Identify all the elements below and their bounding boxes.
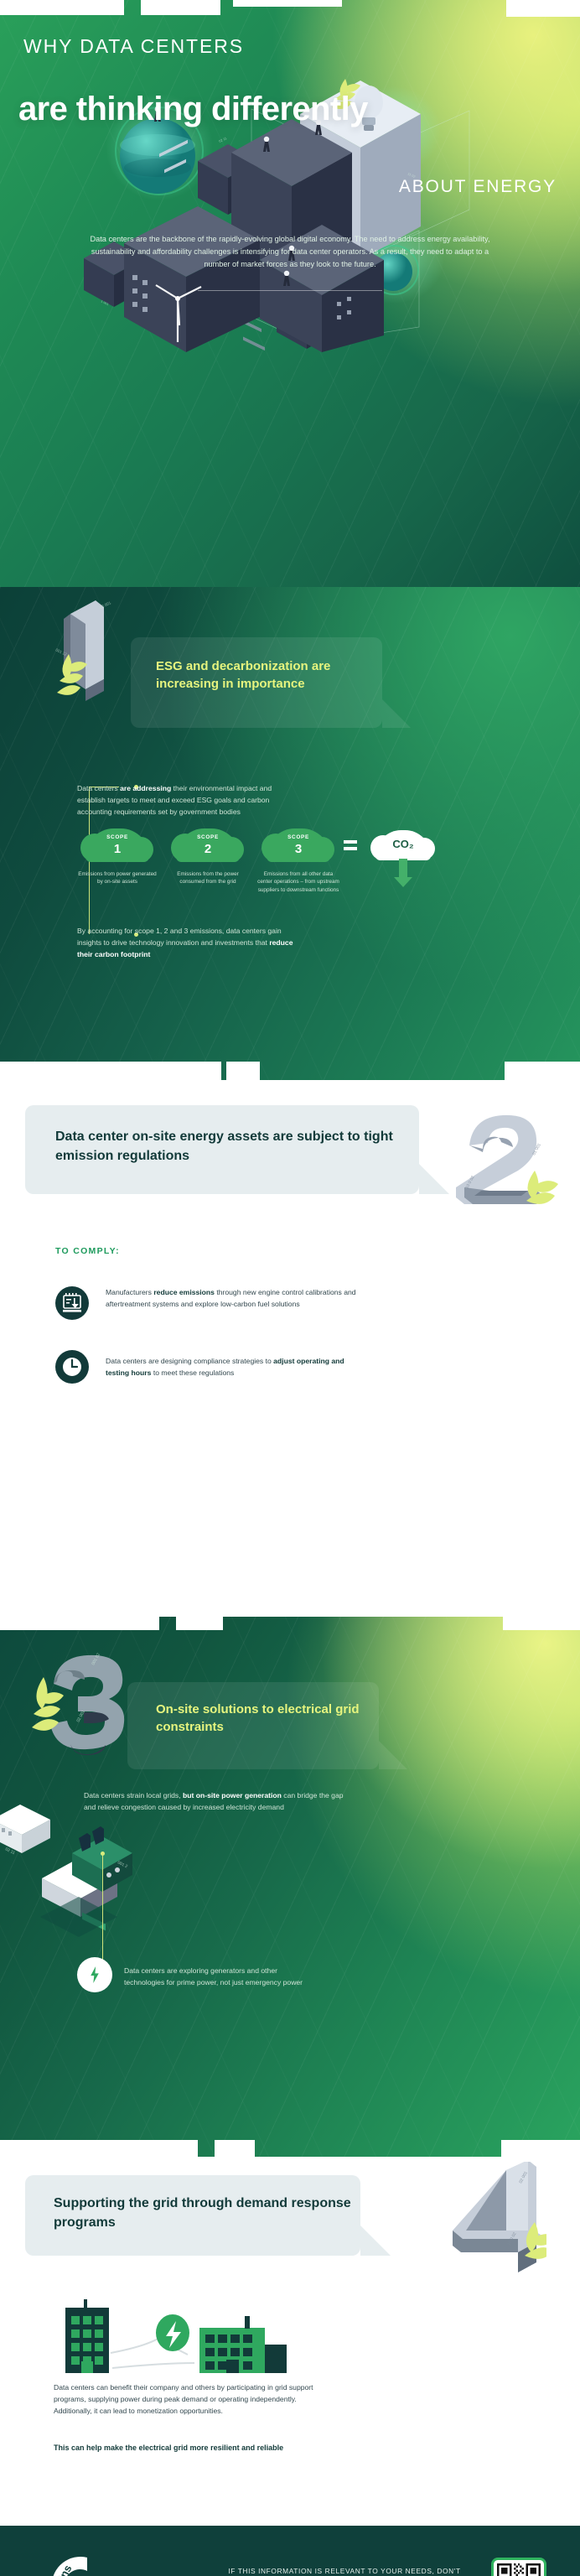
regulations-item-2-text: Data centers are designing compliance st… [106, 1355, 367, 1379]
qr-code[interactable] [491, 2558, 546, 2576]
co2-cloud-icon: CO₂ [375, 830, 431, 860]
hero-title-line1: WHY DATA CENTERS [23, 35, 244, 58]
scope-diagram: SCOPE 1 Emissions from power generated b… [74, 828, 434, 912]
scope-2-cloud: SCOPE 2 [176, 828, 240, 862]
scope-1-label: SCOPE [85, 834, 149, 840]
section-number-2-icon: 01 001 10 0 02 [448, 1109, 558, 1231]
section-number-3-icon: 001 02 02 001 [30, 1652, 139, 1779]
scope-3-label: SCOPE [267, 834, 330, 840]
hero-title-line3: ABOUT ENERGY [399, 177, 557, 197]
hero-title-line2: are thinking differently [18, 91, 368, 128]
bottom-notch-right [505, 1062, 580, 1080]
reg-i1-bold: reduce emissions [153, 1288, 215, 1296]
grid-connector-dot-top [101, 1851, 105, 1856]
regulations-heading: Data center on-site energy assets are su… [55, 1127, 407, 1166]
footer-section: Cummins IF THIS INFORMATION IS RELEVANT … [0, 2526, 580, 2576]
grid-heading: On-site solutions to electrical grid con… [156, 1701, 384, 1736]
section-number-4-icon: 02 001 10 0 02 [441, 2162, 546, 2293]
demand-response-closing: This can help make the electrical grid m… [54, 2444, 439, 2452]
reg-i2-post: to meet these regulations [151, 1368, 234, 1377]
esg-section: 02 001 001 12 ESG and decarbonization ar… [0, 587, 580, 1080]
grid-bullet-2: Data centers are exploring generators an… [124, 1965, 317, 1988]
bottom-notch-gap [226, 1062, 260, 1080]
scope-1-cloud: SCOPE 1 [85, 828, 149, 862]
reg-i1-pre: Manufacturers [106, 1288, 153, 1296]
generator-isometric-illustration: 02 11 001 2 [0, 1791, 159, 1950]
scope-2-caption: Emissions from the power consumed from t… [167, 870, 249, 886]
section-number-1-icon: 02 001 001 12 [32, 599, 126, 716]
top-notch-center [233, 0, 342, 7]
equals-icon [344, 840, 357, 850]
cummins-logo: Cummins [35, 2551, 101, 2576]
esg-b2-pre: By accounting for scope 1, 2 and 3 emiss… [77, 927, 282, 947]
to-comply-label: TO COMPLY: [55, 1246, 120, 1256]
footer-cta-text: IF THIS INFORMATION IS RELEVANT TO YOUR … [215, 2566, 474, 2576]
demand-response-section: Supporting the grid through demand respo… [0, 2157, 580, 2526]
scope-3-cloud: SCOPE 3 [267, 828, 330, 862]
co2-label: CO₂ [375, 838, 431, 850]
bolt-glyph [89, 1966, 101, 1983]
reg-i2-pre: Data centers are designing compliance st… [106, 1357, 273, 1365]
hero-divider [198, 290, 382, 291]
top-notch-right [506, 0, 580, 17]
scope-2-label: SCOPE [176, 834, 240, 840]
top-notch-left [0, 0, 124, 15]
bottom-notch-left [0, 1062, 221, 1080]
esg-b1-pre: Data centers [77, 784, 120, 792]
svg-text:02 11: 02 11 [218, 136, 228, 143]
top-notch-left [0, 1617, 159, 1630]
clock-icon [55, 1350, 89, 1384]
grid-b1-bold: but on-site power generation [183, 1791, 282, 1800]
demand-response-heading: Supporting the grid through demand respo… [54, 2194, 355, 2232]
esg-b1-bold: are addressing [120, 784, 171, 792]
grid-connector-line [102, 1853, 103, 1972]
grid-b1-pre: Data centers strain local grids, [84, 1791, 183, 1800]
bottom-notch-left [0, 2140, 198, 2157]
esg-bullet-2: By accounting for scope 1, 2 and 3 emiss… [77, 925, 297, 960]
bottom-notch-mid [215, 2140, 255, 2157]
grid-bullet-1: Data centers strain local grids, but on-… [84, 1789, 345, 1813]
top-notch-mid [176, 1617, 223, 1630]
demand-response-paragraph: Data centers can benefit their company a… [54, 2381, 330, 2417]
emissions-reduction-icon [55, 1286, 89, 1320]
scope-1-number: 1 [85, 842, 149, 856]
scope-3-number: 3 [267, 842, 330, 856]
hero-section: 02 11 10 01 11 02 1 001 WHY DATA CENTERS… [0, 0, 580, 587]
lightning-bolt-icon [77, 1957, 112, 1992]
hero-intro-paragraph: Data centers are the backbone of the rap… [80, 233, 500, 271]
regulations-item-1-text: Manufacturers reduce emissions through n… [106, 1286, 365, 1310]
infographic-page: 02 11 10 01 11 02 1 001 WHY DATA CENTERS… [0, 0, 580, 2576]
scope-2-number: 2 [176, 842, 240, 856]
esg-heading: ESG and decarbonization are increasing i… [156, 657, 382, 693]
scope-3-caption: Emissions from all other data center ope… [257, 870, 339, 894]
grid-solutions-section: 001 02 02 001 On-site solutions to elect… [0, 1617, 580, 2157]
top-notch-right [503, 1617, 580, 1630]
buildings-grid-diagram [47, 2296, 340, 2380]
bottom-notch-right [501, 2140, 580, 2157]
top-notch-mid [141, 0, 220, 15]
scope-1-caption: Emissions from power generated by on-sit… [76, 870, 158, 886]
svg-text:02 001: 02 001 [99, 600, 111, 610]
regulations-section: Data center on-site energy assets are su… [0, 1080, 580, 1617]
down-arrow-icon [399, 859, 407, 877]
esg-bullet-1: Data centers are addressing their enviro… [77, 782, 295, 818]
